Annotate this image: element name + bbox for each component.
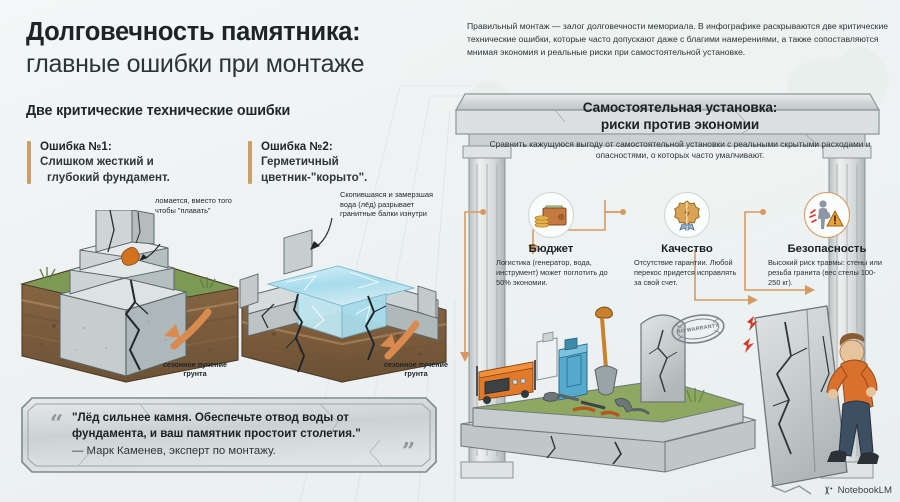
title-line-1: Долговечность памятника: (26, 18, 446, 48)
section-heading: Две критические технические ошибки (26, 103, 290, 119)
error-1-text-line-1: Слишком жесткий и (40, 154, 227, 169)
callout-note-1: ломается, вместо того чтобы "плавать" (155, 196, 235, 215)
infographic-poster: Долговечность памятника: главные ошибки … (0, 0, 900, 502)
wallet-money-icon (528, 192, 574, 238)
risk-title-budget: Бюджет (489, 243, 613, 255)
title-line-2: главные ошибки при монтаже (26, 49, 446, 79)
injury-warning-icon (804, 192, 850, 238)
error-1-label: Ошибка №1: (40, 139, 227, 154)
panel-title-line-2: риски против экономии (485, 116, 875, 133)
accent-bar (248, 141, 252, 184)
quote-open-mark: “ (50, 412, 63, 435)
quote-text: "Лёд сильнее камня. Обеспечьте отвод вод… (72, 410, 420, 459)
risk-card-budget: Бюджет Логистика (генератор, вода, инстр… (489, 192, 613, 288)
expert-quote-plaque: “ ” "Лёд сильнее камня. Обеспечьте отвод… (20, 396, 438, 474)
left-column: Долговечность памятника: главные ошибки … (0, 0, 455, 502)
risk-card-safety: Безопасность Высокий риск травмы: стены … (765, 192, 889, 288)
brand-notebooklm: NotebookLM (823, 485, 892, 496)
error-1-text-line-2: глубокий фундамент. (40, 170, 170, 185)
quote-attribution: — Марк Каменев, эксперт по монтажу. (72, 443, 420, 459)
brand-name: NotebookLM (838, 485, 892, 496)
intro-paragraph: Правильный монтаж — залог долговечности … (467, 20, 891, 59)
right-column: Правильный монтаж — залог долговечности … (455, 0, 900, 502)
error-2-text-line-2: цветник-"корыто". (261, 170, 448, 185)
risk-card-quality: Качество Отсутствие гарантии. Любой пере… (625, 192, 749, 288)
quote-line-1: "Лёд сильнее камня. Обеспечьте отвод вод… (72, 410, 420, 426)
risk-title-safety: Безопасность (765, 243, 889, 255)
broken-award-icon (664, 192, 710, 238)
panel-title-line-1: Самостоятельная установка: (485, 99, 875, 116)
risk-body-safety: Высокий риск травмы: стены или резьба гр… (765, 258, 889, 288)
risk-columns: Бюджет Логистика (генератор, вода, инстр… (477, 192, 897, 312)
illustration-rigid-foundation (14, 210, 244, 385)
quote-line-2: фундамента, и ваш памятник простоит стол… (72, 426, 420, 442)
panel-subtitle: Сравнить кажущуюся выгоду от самостоятел… (485, 139, 875, 163)
risk-body-quality: Отсутствие гарантии. Любой перекос приде… (625, 258, 749, 288)
error-2-text-line-1: Герметичный (261, 154, 448, 169)
notebooklm-icon (823, 485, 834, 496)
accent-bar (27, 141, 31, 184)
risk-body-budget: Логистика (генератор, вода, инструмент) … (489, 258, 613, 288)
error-block-2: Ошибка №2: Герметичный цветник-"корыто". (248, 139, 448, 185)
diy-installation-scene: NO WARRANTY (455, 296, 900, 502)
risk-title-quality: Качество (625, 243, 749, 255)
illustration-sealed-flowerbed (238, 210, 450, 385)
error-block-1: Ошибка №1: Слишком жесткий и глубокий фу… (27, 139, 227, 185)
panel-heading: Самостоятельная установка: риски против … (485, 99, 875, 162)
error-2-label: Ошибка №2: (261, 139, 448, 154)
ground-heave-note-1: сезонное пучение грунта (155, 360, 235, 379)
callout-note-2: Скопившаяся и замерзшая вода (лёд) разры… (340, 190, 435, 219)
page-title: Долговечность памятника: главные ошибки … (26, 18, 446, 79)
